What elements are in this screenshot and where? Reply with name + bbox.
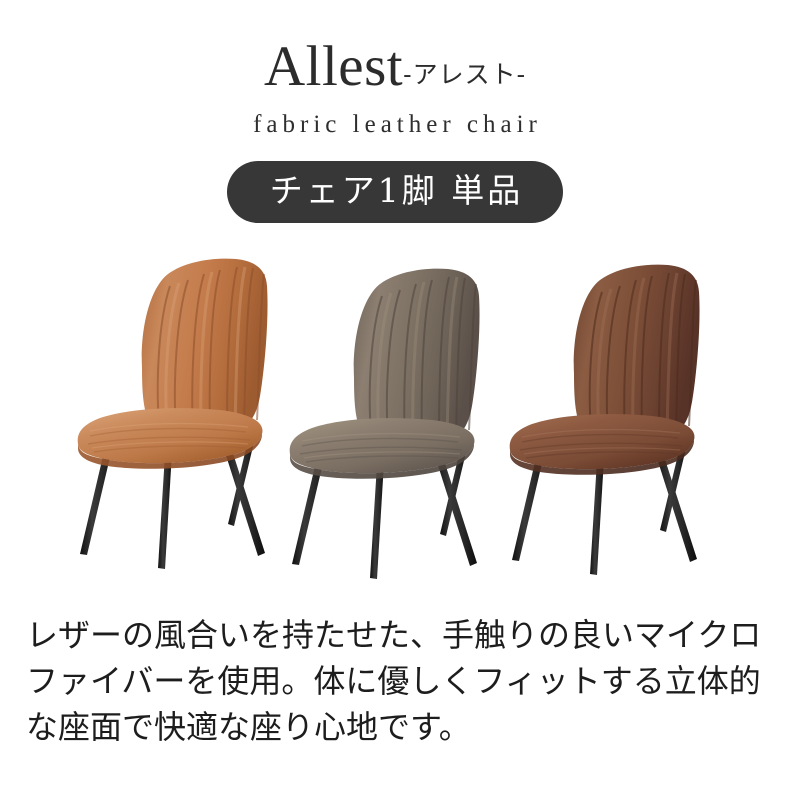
status-badge: チェア1脚 単品 xyxy=(227,161,564,223)
banner-header: Allest-アレスト- fabric leather chair チェア1脚 … xyxy=(0,0,790,240)
brand-name-kana: -アレスト- xyxy=(403,60,526,89)
brand-title-row: Allest-アレスト- xyxy=(0,38,790,95)
badge-container: チェア1脚 単品 xyxy=(0,161,790,223)
description-line-1: レザーの風合いを持たせた、手触りの良いマイクロ xyxy=(26,612,768,658)
backrest-orange xyxy=(142,259,268,434)
chair-image-brown xyxy=(492,262,742,602)
backrest-brown xyxy=(574,265,700,440)
product-image-stage xyxy=(0,248,790,608)
description-line-2: ファイバーを使用。体に優しくフィットする立体的 xyxy=(26,658,768,704)
product-banner: Allest-アレスト- fabric leather chair チェア1脚 … xyxy=(0,0,790,790)
chair-image-taupe xyxy=(272,266,522,606)
backrest-taupe xyxy=(354,269,480,444)
page-subtitle: fabric leather chair xyxy=(0,110,790,140)
product-description: レザーの風合いを持たせた、手触りの良いマイクロ ファイバーを使用。体に優しくフィ… xyxy=(26,612,768,750)
brand-name: Allest xyxy=(264,35,403,98)
description-line-3: な座面で快適な座り心地です。 xyxy=(26,704,768,750)
